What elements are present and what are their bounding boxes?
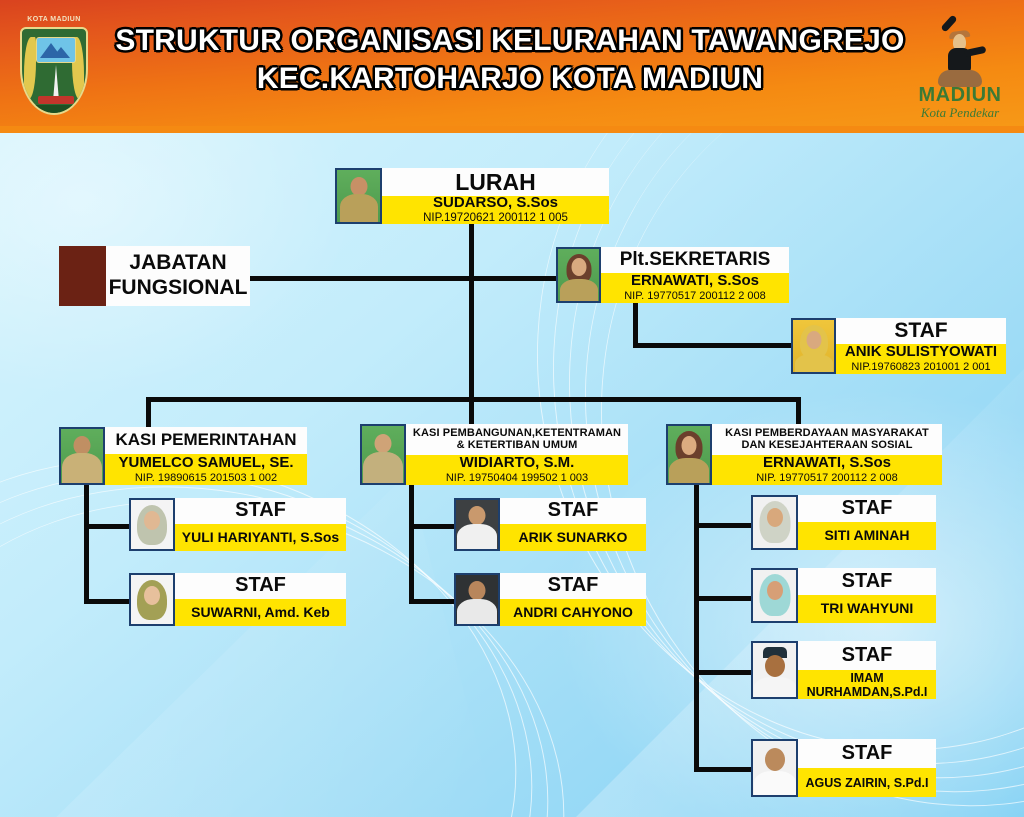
header-banner: KOTA MADIUN STRUKTUR ORGANISASI KELURAHA… [0,0,1024,133]
crest-rice-left [24,37,36,99]
node-kasi-3-staf-2[interactable]: STAF TRI WAHYUNI [751,568,936,623]
kasi3-staf3-textbox: STAF IMAM NURHAMDAN,S.Pd.I [798,641,936,699]
sekretaris-staf-name-row: ANIK SULISTYOWATI NIP.19760823 201001 2 … [836,344,1006,374]
crest-shield [20,27,88,115]
fungsional-label: JABATAN FUNGSIONAL [106,246,250,306]
connector-col1-staff2 [84,599,129,604]
kasi3-staf1-title: STAF [798,495,936,522]
kasi-2-title-line2: & KETERTIBAN UMUM [457,440,578,452]
kasi-2-title: KASI PEMBANGUNAN,KETENTRAMAN & KETERTIBA… [406,424,628,455]
kasi-3-name: ERNAWATI, S.Sos [763,455,891,472]
sekretaris-name: ERNAWATI, S.Sos [631,273,759,290]
connector-col1-spine [84,485,89,604]
connector-kasi1-drop [146,397,151,430]
kasi3-staf4-title: STAF [798,739,936,768]
avatar-kasi-1 [59,427,105,485]
crest-mountain-2 [52,47,70,58]
kasi-2-textbox: KASI PEMBANGUNAN,KETENTRAMAN & KETERTIBA… [406,424,628,485]
connector-col3-spine [694,485,699,772]
page-title: STRUKTUR ORGANISASI KELURAHAN TAWANGREJO… [110,22,910,98]
kasi2-staf1-title: STAF [500,498,646,524]
avatar-torso [795,354,833,374]
kasi-2-nip: NIP. 19750404 199502 1 003 [446,472,588,484]
fungsional-label-line2: FUNGSIONAL [109,276,248,301]
connector-col3-staff2 [694,596,751,601]
sekretaris-staf-name: ANIK SULISTYOWATI [845,344,997,361]
connector-lurah-to-sekretaris [469,276,569,281]
kasi-3-textbox: KASI PEMBERDAYAAN MASYARAKAT DAN KESEJAH… [712,424,942,485]
kasi-1-name: YUMELCO SAMUEL, SE. [118,455,293,472]
kasi3-staf2-name-row: TRI WAHYUNI [798,595,936,623]
connector-lurah-to-fungsional [250,276,474,281]
node-jabatan-fungsional[interactable]: JABATAN FUNGSIONAL [59,246,250,306]
kasi2-staf1-name: ARIK SUNARKO [519,530,628,546]
sekretaris-textbox: Plt.SEKRETARIS ERNAWATI, S.Sos NIP. 1977… [601,247,789,303]
avatar-head [469,506,486,525]
avatar-head [144,586,160,605]
node-kasi-3-staf-4[interactable]: STAF AGUS ZAIRIN, S.Pd.I [751,739,936,797]
kasi-3-title: KASI PEMBERDAYAAN MASYARAKAT DAN KESEJAH… [712,424,942,455]
kasi1-staf1-name: YULI HARIYANTI, S.Sos [182,530,339,546]
dancer-arm-right [964,46,987,57]
lurah-nip: NIP.19720621 200112 1 005 [423,212,568,225]
avatar-torso [754,677,796,699]
kasi2-staf1-textbox: STAF ARIK SUNARKO [500,498,646,551]
connector-sekretaris-down [633,303,638,347]
sekretaris-staf-title: STAF [836,318,1006,344]
connector-col3-staff3 [694,670,751,675]
node-kasi-1-staf-2[interactable]: STAF SUWARNI, Amd. Keb [129,573,346,626]
madiun-tourism-logo-icon: MADIUN Kota Pendekar [910,12,1010,124]
sekretaris-title: Plt.SEKRETARIS [601,247,789,273]
dancer-figure-icon [936,18,982,84]
kasi-1-nip: NIP. 19890615 201503 1 002 [135,472,277,484]
kasi3-staf4-name: AGUS ZAIRIN, S.Pd.I [806,776,929,790]
kasi3-staf2-textbox: STAF TRI WAHYUNI [798,568,936,623]
avatar-head [469,581,486,600]
kasi2-staf2-name-row: ANDRI CAHYONO [500,599,646,626]
node-kasi-3-staf-3[interactable]: STAF IMAM NURHAMDAN,S.Pd.I [751,641,936,699]
kasi-1-title: KASI PEMERINTAHAN [105,427,307,454]
avatar-head [765,748,785,771]
kasi3-staf2-title: STAF [798,568,936,595]
avatar-head [144,511,160,530]
avatar-head [767,508,783,527]
connector-col3-staff1 [694,523,751,528]
avatar-head [571,258,586,276]
connector-col1-staff1 [84,524,129,529]
kasi1-staf2-title: STAF [175,573,346,599]
kota-madiun-crest-icon: KOTA MADIUN [12,14,96,120]
node-kasi-2[interactable]: KASI PEMBANGUNAN,KETENTRAMAN & KETERTIBA… [360,424,628,485]
kasi1-staf1-name-row: YULI HARIYANTI, S.Sos [175,524,346,551]
avatar-kasi1-staf1 [129,498,175,551]
kasi1-staf2-name: SUWARNI, Amd. Keb [191,605,330,621]
lurah-textbox: LURAH SUDARSO, S.Sos NIP.19720621 200112… [382,168,609,224]
crest-label: KOTA MADIUN [12,16,96,23]
kasi-1-name-row: YUMELCO SAMUEL, SE. NIP. 19890615 201503… [105,454,307,485]
page-title-line1: STRUKTUR ORGANISASI KELURAHAN TAWANGREJO [115,24,904,57]
node-kasi-1-staf-1[interactable]: STAF YULI HARIYANTI, S.Sos [129,498,346,551]
kasi1-staf2-name-row: SUWARNI, Amd. Keb [175,599,346,626]
kasi3-staf1-textbox: STAF SITI AMINAH [798,495,936,550]
page-title-line2: KEC.KARTOHARJO KOTA MADIUN [110,60,910,98]
avatar-torso [62,453,102,485]
sekretaris-staf-textbox: STAF ANIK SULISTYOWATI NIP.19760823 2010… [836,318,1006,374]
kasi3-staf1-name-row: SITI AMINAH [798,522,936,550]
node-sekretaris-staf[interactable]: STAF ANIK SULISTYOWATI NIP.19760823 2010… [791,318,1006,374]
kasi-3-name-row: ERNAWATI, S.Sos NIP. 19770517 200112 2 0… [712,455,942,485]
sekretaris-name-row: ERNAWATI, S.Sos NIP. 19770517 200112 2 0… [601,273,789,303]
kasi3-staf4-textbox: STAF AGUS ZAIRIN, S.Pd.I [798,739,936,797]
kasi-3-title-line1: KASI PEMBERDAYAAN MASYARAKAT [725,428,929,440]
avatar-torso [457,599,497,626]
avatar-torso [560,279,598,303]
avatar-kasi3-staf3 [751,641,798,699]
node-kasi-3-staf-1[interactable]: STAF SITI AMINAH [751,495,936,550]
node-sekretaris[interactable]: Plt.SEKRETARIS ERNAWATI, S.Sos NIP. 1977… [556,247,789,303]
avatar-kasi2-staf2 [454,573,500,626]
kasi3-staf1-name: SITI AMINAH [824,528,909,544]
kasi2-staf2-title: STAF [500,573,646,599]
kasi-2-name-row: WIDIARTO, S.M. NIP. 19750404 199502 1 00… [406,455,628,485]
connector-sekretaris-to-staf [633,343,793,348]
avatar-kasi3-staf4 [751,739,798,797]
avatar-kasi-3 [666,424,712,485]
avatar-sekretaris-staf [791,318,836,374]
avatar-head [765,655,785,677]
crest-base [38,96,74,104]
connector-col2-staff1 [409,524,454,529]
avatar-kasi2-staf1 [454,498,500,551]
kasi3-staf4-name-row: AGUS ZAIRIN, S.Pd.I [798,768,936,797]
kasi1-staf2-textbox: STAF SUWARNI, Amd. Keb [175,573,346,626]
avatar-torso [363,452,403,485]
kasi2-staf1-name-row: ARIK SUNARKO [500,524,646,551]
kasi1-staf1-textbox: STAF YULI HARIYANTI, S.Sos [175,498,346,551]
kasi-2-title-line1: KASI PEMBANGUNAN,KETENTRAMAN [413,428,621,440]
kasi2-staf2-name: ANDRI CAHYONO [513,605,633,621]
lurah-title: LURAH [382,168,609,196]
avatar-torso [754,771,796,797]
avatar-head [375,434,392,453]
fungsional-label-line1: JABATAN [129,251,226,276]
fungsional-color-swatch [59,246,106,306]
node-kasi-2-staf-2[interactable]: STAF ANDRI CAHYONO [454,573,646,626]
lurah-name: SUDARSO, S.Sos [433,195,558,212]
connector-lurah-trunk [469,224,474,401]
kasi-1-textbox: KASI PEMERINTAHAN YUMELCO SAMUEL, SE. NI… [105,427,307,485]
kasi-3-title-line2: DAN KESEJAHTERAAN SOSIAL [741,440,912,452]
avatar-lurah [335,168,382,224]
connector-col2-spine [409,485,414,604]
kasi3-staf3-name: IMAM NURHAMDAN,S.Pd.I [798,671,936,699]
connector-col2-staff2 [409,599,454,604]
kasi3-staf2-name: TRI WAHYUNI [821,601,914,617]
sekretaris-staf-nip: NIP.19760823 201001 2 001 [851,361,990,373]
kasi3-staf3-title: STAF [798,641,936,670]
avatar-head [767,581,783,600]
kasi3-staf3-name-row: IMAM NURHAMDAN,S.Pd.I [798,670,936,699]
avatar-head [682,436,697,455]
kasi1-staf1-title: STAF [175,498,346,524]
madiun-logo-word: MADIUN [910,84,1010,107]
kasi-3-nip: NIP. 19770517 200112 2 008 [756,472,898,484]
chart-canvas: LURAH SUDARSO, S.Sos NIP.19720621 200112… [0,133,1024,817]
kasi2-staf2-textbox: STAF ANDRI CAHYONO [500,573,646,626]
avatar-kasi3-staf2 [751,568,798,623]
kasi-2-name: WIDIARTO, S.M. [460,455,575,472]
node-kasi-3[interactable]: KASI PEMBERDAYAAN MASYARAKAT DAN KESEJAH… [666,424,942,485]
lurah-name-row: SUDARSO, S.Sos NIP.19720621 200112 1 005 [382,196,609,224]
avatar-torso [669,458,709,485]
node-kasi-1[interactable]: KASI PEMERINTAHAN YUMELCO SAMUEL, SE. NI… [59,427,307,485]
avatar-head [806,331,821,349]
avatar-torso [457,524,497,551]
avatar-kasi-2 [360,424,406,485]
node-lurah[interactable]: LURAH SUDARSO, S.Sos NIP.19720621 200112… [335,168,609,224]
connector-col3-staff4 [694,767,751,772]
avatar-torso [340,194,378,224]
crest-green-band [22,105,86,113]
dancer-arm-left [940,14,957,32]
avatar-kasi3-staf1 [751,495,798,550]
avatar-sekretaris [556,247,601,303]
node-kasi-2-staf-1[interactable]: STAF ARIK SUNARKO [454,498,646,551]
organization-chart-poster: KOTA MADIUN STRUKTUR ORGANISASI KELURAHA… [0,0,1024,817]
sekretaris-nip: NIP. 19770517 200112 2 008 [624,290,766,302]
avatar-kasi1-staf2 [129,573,175,626]
madiun-logo-tagline: Kota Pendekar [910,105,1010,121]
